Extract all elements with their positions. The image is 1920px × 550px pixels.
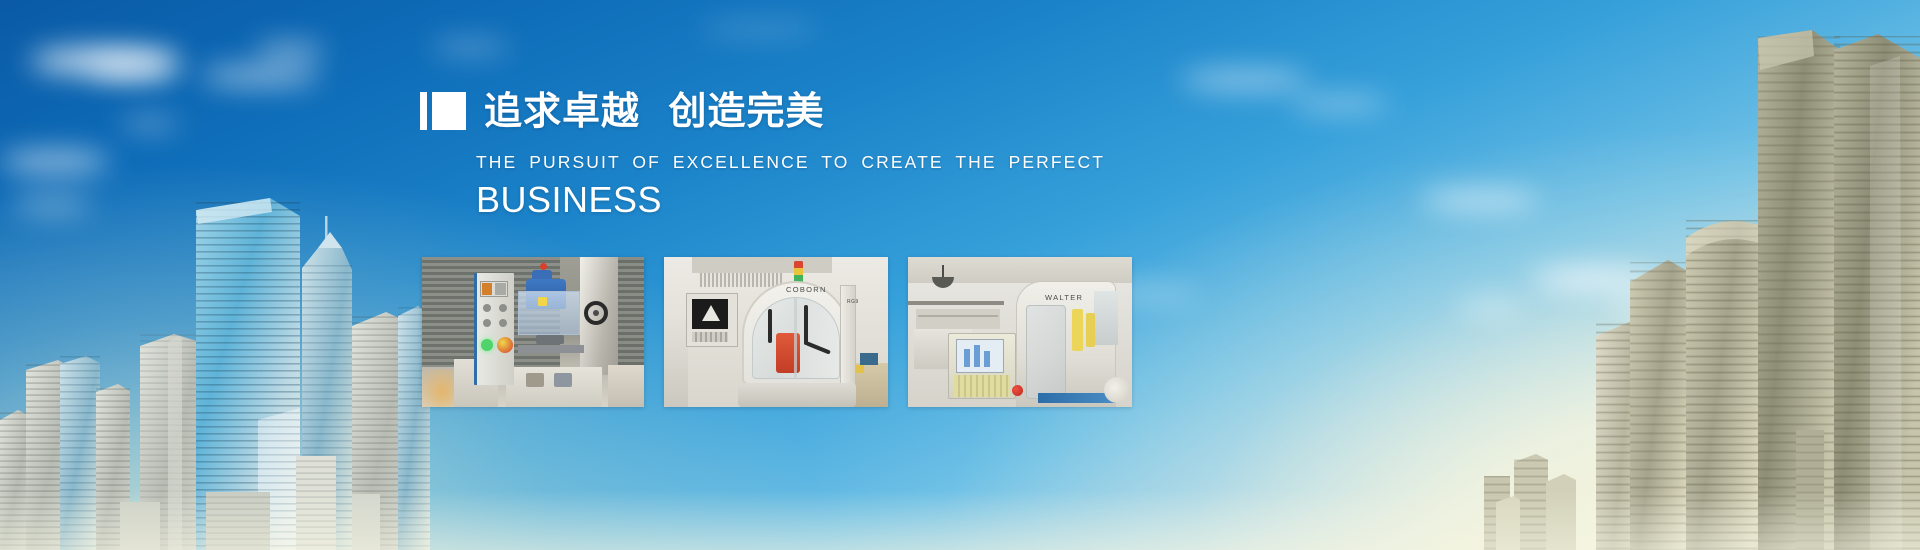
power-indicator-green	[481, 339, 493, 351]
yellow-guard-panel	[1072, 309, 1083, 351]
ceiling-beam	[908, 301, 1004, 305]
screen-bar-graphic	[964, 349, 970, 367]
roller-shutter-right	[618, 257, 644, 375]
shelf-edge	[918, 315, 998, 317]
brand-label-coborn: COBORN	[786, 285, 827, 294]
cable-reel	[1104, 377, 1130, 403]
machine-cabinet-right	[608, 365, 644, 407]
cloud-icon	[88, 60, 178, 78]
cnc-keypad	[692, 332, 728, 342]
business-word: BUSINESS	[476, 179, 1140, 221]
enclosure-side-window	[1094, 291, 1118, 345]
console-keyboard	[954, 375, 1010, 397]
headline-chinese: 追求卓越 创造完美	[484, 90, 824, 132]
subtitle-english: THE PURSUIT OF EXCELLENCE TO CREATE THE …	[476, 151, 1140, 173]
cloud-icon	[1455, 300, 1525, 314]
cloud-icon	[0, 150, 110, 174]
cloud-icon	[1610, 296, 1700, 312]
yellow-guard-panel	[1086, 313, 1095, 347]
panel-button	[499, 304, 507, 312]
screen-triangle-graphic	[702, 305, 720, 321]
window-mullion	[794, 297, 797, 379]
hero-banner: 追求卓越 创造完美 THE PURSUIT OF EXCELLENCE TO C…	[0, 0, 1920, 550]
ventilation-grill	[698, 273, 784, 287]
panel-display-orange	[482, 283, 492, 295]
storage-box-blue	[860, 353, 878, 365]
cloud-icon	[1420, 190, 1540, 210]
machine-arm	[804, 305, 808, 345]
signal-lamp-yellow	[794, 268, 803, 275]
machine-arm	[768, 309, 772, 343]
brand-bar-thin	[420, 92, 427, 130]
status-lamp-red	[540, 263, 547, 270]
emergency-stop-button	[1012, 385, 1023, 396]
brand-bars-icon	[420, 92, 466, 130]
panel-button	[483, 319, 491, 327]
screen-bar-graphic	[984, 351, 990, 367]
workpiece	[554, 373, 572, 387]
cloud-icon	[1530, 268, 1660, 290]
cloud-icon	[700, 22, 820, 36]
model-label-coborn: RG9	[847, 299, 859, 305]
cloud-icon	[12, 196, 92, 214]
photo-walter-tool-grinder[interactable]: WALTER	[908, 257, 1132, 407]
product-photo-strip: COBORN RG9 WALTER	[422, 257, 1132, 407]
panel-button	[483, 304, 491, 312]
city-skyline-left	[0, 120, 430, 550]
bottom-haze-overlay	[0, 490, 1920, 550]
emergency-stop-button	[497, 337, 513, 353]
spindle-chuck	[536, 335, 564, 344]
panel-button	[499, 319, 507, 327]
cloud-icon	[1290, 96, 1390, 112]
headline-row: 追求卓越 创造完美	[420, 88, 1140, 134]
cloud-icon	[30, 48, 180, 74]
cloud-icon	[430, 40, 510, 54]
workpiece	[526, 373, 544, 387]
photo-coborn-grinding-machine[interactable]: COBORN RG9	[664, 257, 888, 407]
machine-base	[738, 383, 856, 407]
machine-table	[518, 345, 584, 353]
panel-display-grey	[495, 283, 506, 295]
brand-label-walter: WALTER	[1045, 293, 1083, 302]
handwheel-hub	[593, 310, 599, 316]
city-skyline-right	[1400, 30, 1920, 550]
cloud-icon	[200, 66, 320, 86]
cloud-icon	[120, 118, 180, 130]
ceiling-panel	[692, 257, 832, 273]
enclosure-door-glass	[1026, 305, 1066, 399]
brand-bar-wide	[432, 92, 466, 130]
cloud-icon	[255, 44, 325, 58]
safety-guard-glass	[518, 291, 580, 335]
screen-bar-graphic	[974, 345, 980, 367]
photo-cnc-milling-machine[interactable]	[422, 257, 644, 407]
cloud-icon	[1180, 70, 1310, 90]
wall-shelf	[916, 309, 1000, 329]
signal-lamp-red	[794, 261, 803, 268]
warning-label-yellow	[538, 297, 547, 306]
side-cabinet	[664, 309, 688, 407]
banner-content: 追求卓越 创造完美 THE PURSUIT OF EXCELLENCE TO C…	[420, 88, 1140, 221]
